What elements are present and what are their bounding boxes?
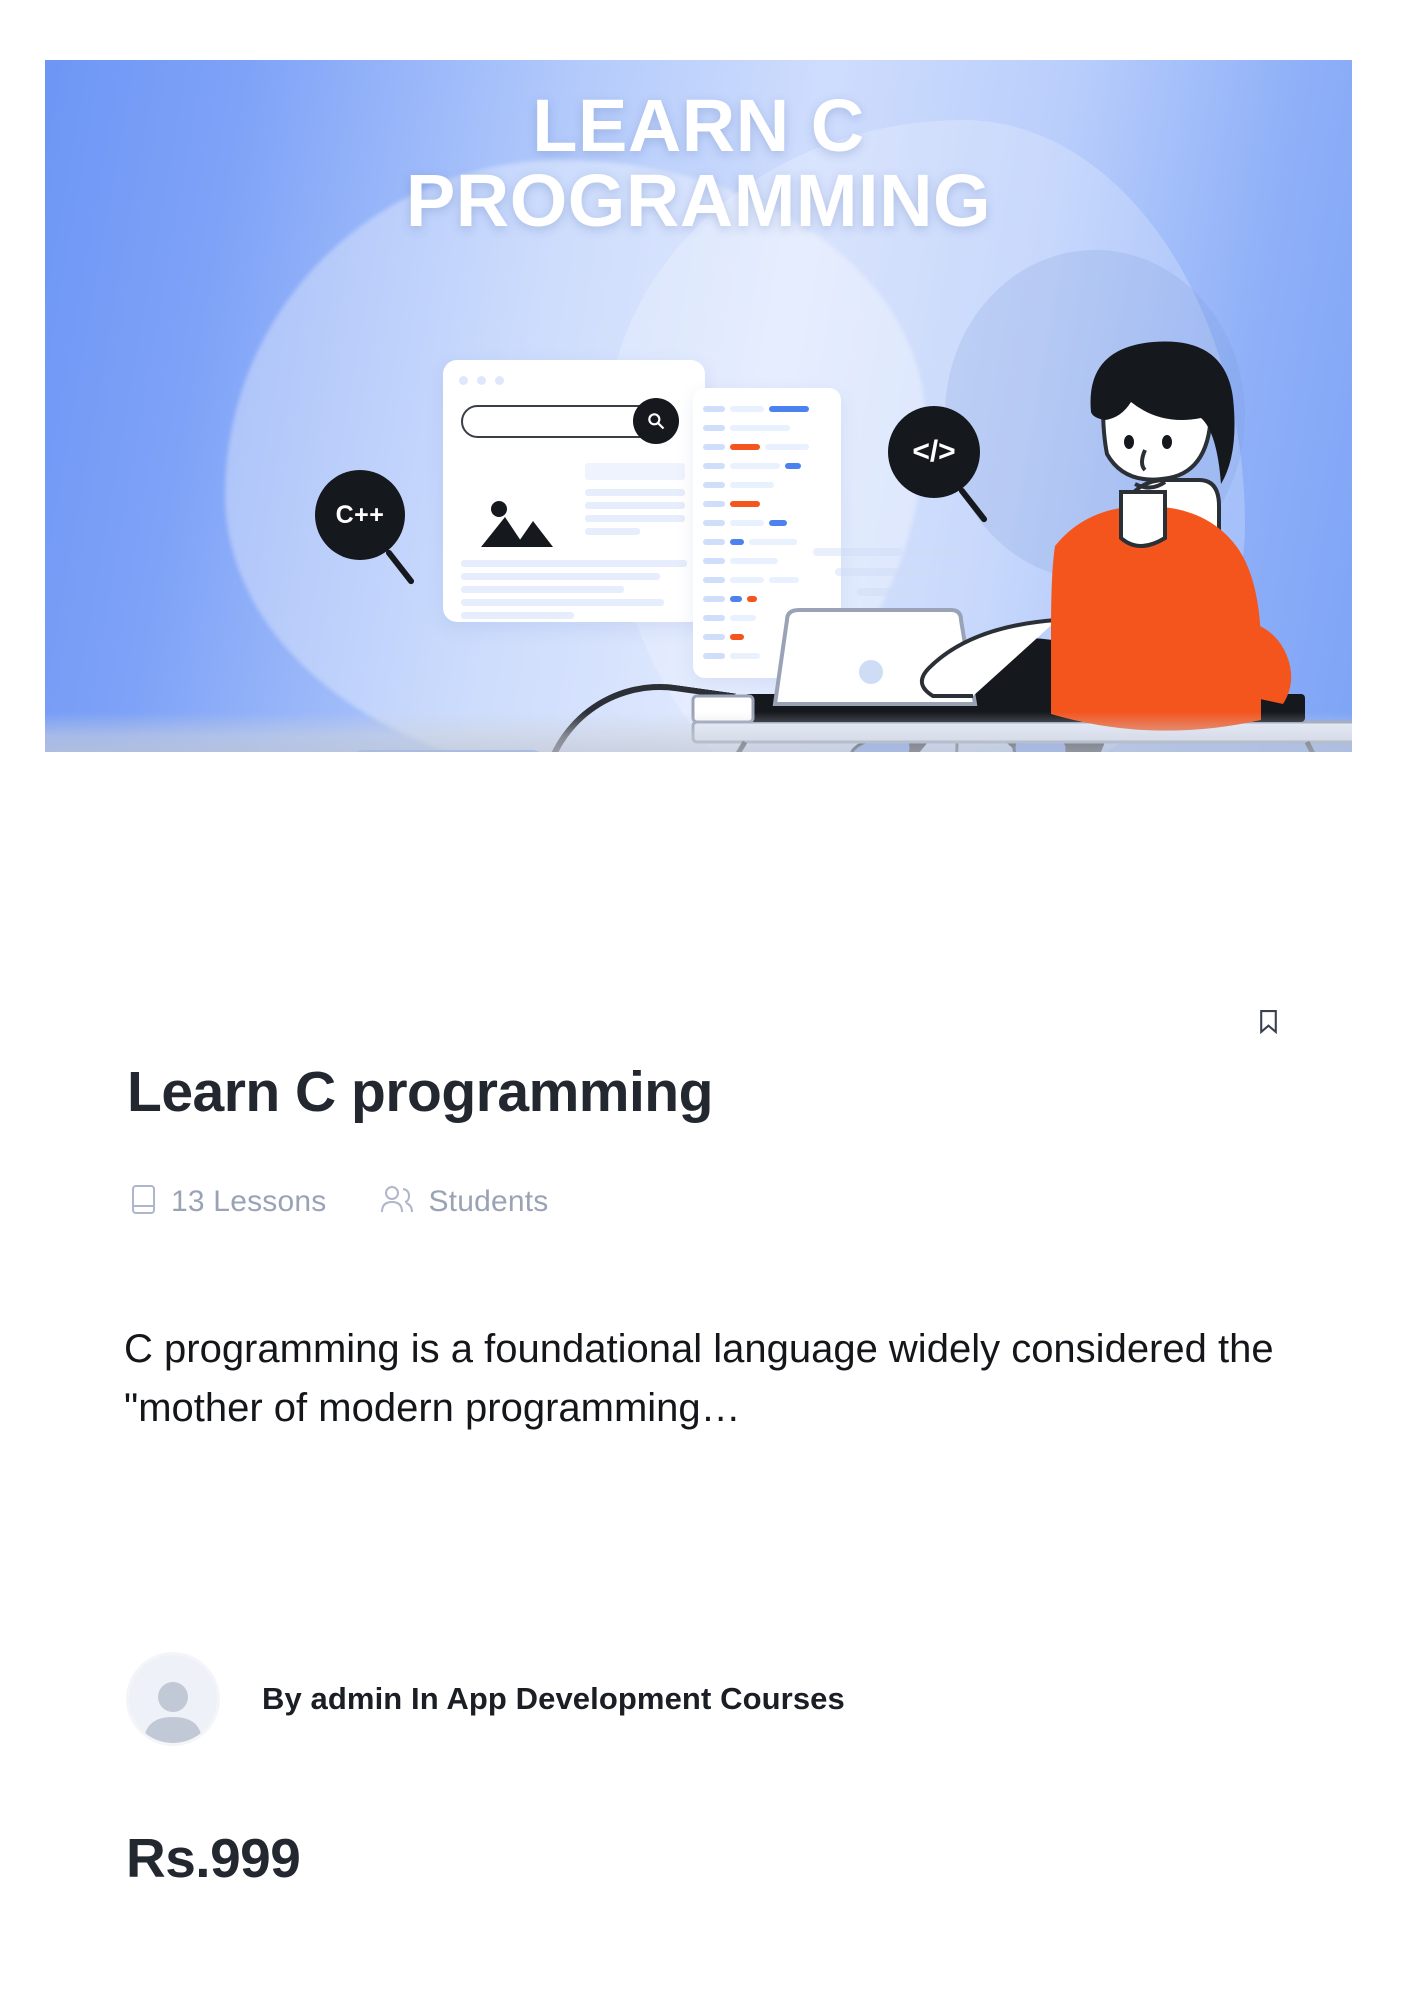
- students-icon: [380, 1184, 414, 1220]
- meta-students: Students: [380, 1184, 548, 1220]
- author-byline: By admin In App Development Courses: [262, 1681, 845, 1717]
- lessons-label: 13 Lessons: [171, 1185, 326, 1219]
- book-icon: [130, 1184, 157, 1220]
- banner-headline: LEARN C PROGRAMMING: [45, 88, 1352, 239]
- user-avatar-icon: [126, 1652, 220, 1746]
- banner-ground: [45, 712, 1352, 752]
- course-banner: LEARN C PROGRAMMING: [45, 60, 1352, 752]
- course-card-page: LEARN C PROGRAMMING: [0, 0, 1414, 2000]
- course-author-row: By admin In App Development Courses: [126, 1652, 845, 1746]
- students-label: Students: [428, 1185, 548, 1219]
- bookmark-icon[interactable]: [1251, 1004, 1285, 1038]
- course-meta-row: 13 Lessons Students: [130, 1184, 548, 1220]
- course-title: Learn C programming: [127, 1059, 713, 1125]
- course-description: C programming is a foundational language…: [124, 1320, 1314, 1438]
- meta-lessons: 13 Lessons: [130, 1184, 326, 1220]
- course-price: Rs.999: [126, 1826, 300, 1890]
